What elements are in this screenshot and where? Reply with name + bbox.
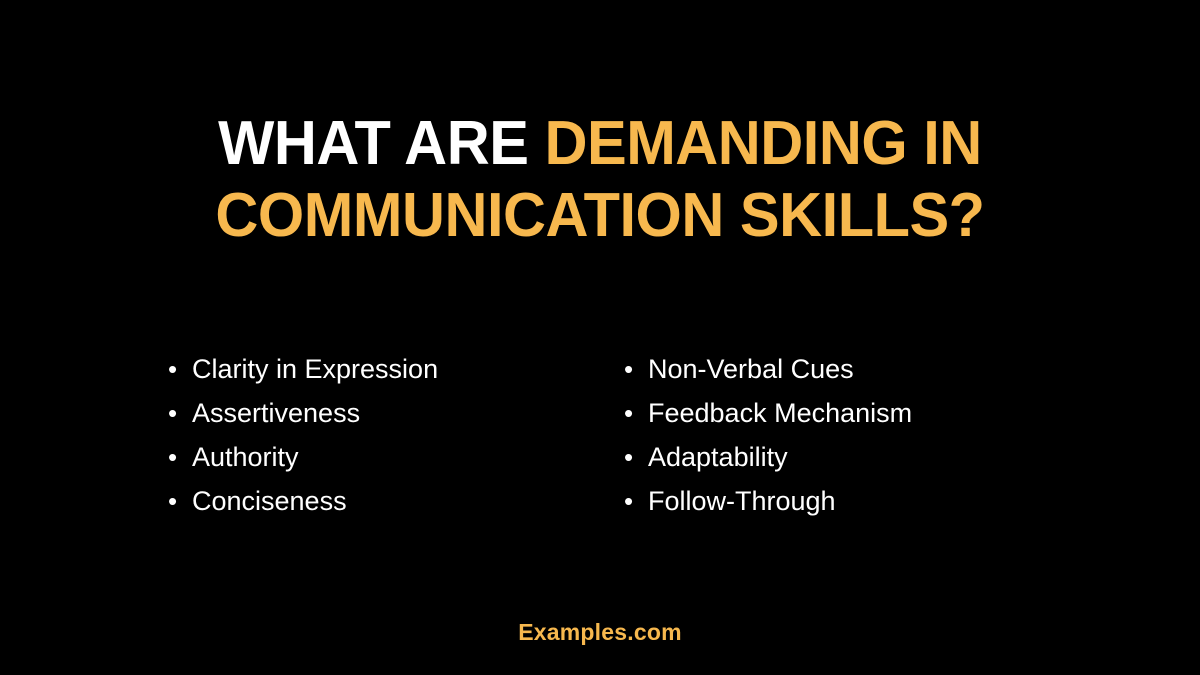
list-item: • Non-Verbal Cues bbox=[624, 352, 1080, 396]
bullet-list-left: • Clarity in Expression • Assertiveness … bbox=[168, 352, 624, 528]
bullet-dot-icon: • bbox=[624, 484, 648, 518]
bullet-dot-icon: • bbox=[168, 396, 192, 430]
title-segment-white: WHAT ARE bbox=[218, 109, 544, 178]
slide-canvas: WHAT ARE DEMANDING IN COMMUNICATION SKIL… bbox=[0, 0, 1200, 675]
list-item: • Clarity in Expression bbox=[168, 352, 624, 396]
list-item: • Feedback Mechanism bbox=[624, 396, 1080, 440]
list-item: • Authority bbox=[168, 440, 624, 484]
list-item-label: Non-Verbal Cues bbox=[648, 352, 1080, 386]
bullet-dot-icon: • bbox=[624, 440, 648, 474]
list-item-label: Assertiveness bbox=[192, 396, 624, 430]
list-item-label: Authority bbox=[192, 440, 624, 474]
title-line-2: COMMUNICATION SKILLS? bbox=[24, 180, 1176, 252]
bullet-dot-icon: • bbox=[624, 352, 648, 386]
bullet-list-right: • Non-Verbal Cues • Feedback Mechanism •… bbox=[624, 352, 1080, 528]
bullet-dot-icon: • bbox=[624, 396, 648, 430]
bullet-dot-icon: • bbox=[168, 352, 192, 386]
list-item-label: Conciseness bbox=[192, 484, 624, 518]
list-item-label: Feedback Mechanism bbox=[648, 396, 1080, 430]
bullet-lists: • Clarity in Expression • Assertiveness … bbox=[0, 352, 1200, 528]
bullet-dot-icon: • bbox=[168, 484, 192, 518]
page-title: WHAT ARE DEMANDING IN COMMUNICATION SKIL… bbox=[0, 108, 1200, 252]
list-item: • Assertiveness bbox=[168, 396, 624, 440]
bullet-dot-icon: • bbox=[168, 440, 192, 474]
brand-wordmark: Examples.com bbox=[518, 619, 681, 645]
list-item: • Adaptability bbox=[624, 440, 1080, 484]
title-segment-accent: DEMANDING IN bbox=[544, 109, 981, 178]
list-item: • Conciseness bbox=[168, 484, 624, 528]
list-item-label: Follow-Through bbox=[648, 484, 1080, 518]
list-item-label: Adaptability bbox=[648, 440, 1080, 474]
footer: Examples.com bbox=[0, 618, 1200, 646]
list-item: • Follow-Through bbox=[624, 484, 1080, 528]
title-line-1: WHAT ARE DEMANDING IN bbox=[24, 108, 1176, 180]
list-item-label: Clarity in Expression bbox=[192, 352, 624, 386]
